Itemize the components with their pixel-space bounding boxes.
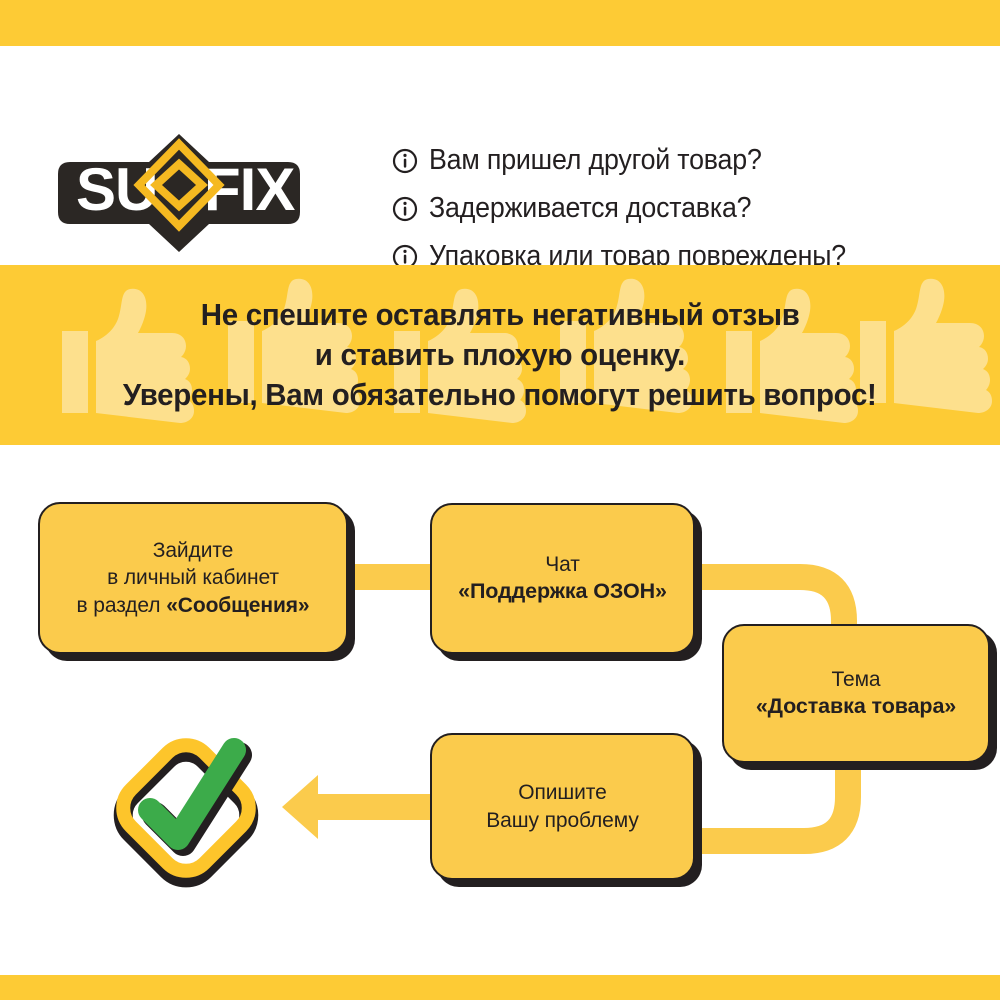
flowchart-section: Зайдите в личный кабинет в раздел «Сообщ… [0, 445, 1000, 975]
question-item: Вам пришел другой товар? [392, 138, 992, 183]
warning-banner: Не спешите оставлять негативный отзыв и … [0, 265, 1000, 445]
node-line-mixed: в раздел «Сообщения» [76, 592, 309, 619]
green-checkmark-icon [106, 728, 266, 888]
info-icon [392, 148, 418, 174]
banner-line-1: Не спешите оставлять негативный отзыв [201, 297, 800, 333]
connector-messages-to-chat [344, 564, 440, 590]
node-line-prefix: в раздел [76, 594, 166, 617]
question-text: Задерживается доставка? [429, 192, 751, 225]
header-section: SU FIX Вам пришел д [0, 46, 1000, 265]
banner-line-2: и ставить плохую оценку. [315, 337, 685, 373]
poster-root: SU FIX Вам пришел д [0, 0, 1000, 1000]
banner-line-3: Уверены, Вам обязательно помогут решить … [123, 377, 877, 413]
node-line-bold: «Доставка товара» [756, 693, 956, 721]
question-list: Вам пришел другой товар? Задерживается д… [392, 138, 992, 282]
flow-node-describe[interactable]: Опишите Вашу проблему [430, 733, 695, 880]
node-line-bold: «Поддержка ОЗОН» [458, 578, 667, 606]
node-line: Тема [831, 666, 880, 693]
node-line: в личный кабинет [107, 564, 279, 591]
arrow-left-icon [282, 775, 436, 839]
node-line: Опишите [518, 779, 606, 806]
node-line: Зайдите [153, 537, 233, 564]
banner-text-block: Не спешите оставлять негативный отзыв и … [0, 265, 1000, 445]
node-line: Чат [545, 551, 580, 578]
sufix-logo: SU FIX [48, 128, 310, 258]
flow-node-chat[interactable]: Чат «Поддержка ОЗОН» [430, 503, 695, 654]
question-text: Вам пришел другой товар? [429, 144, 762, 177]
info-icon [392, 196, 418, 222]
top-accent-bar [0, 0, 1000, 46]
node-line: Вашу проблему [486, 807, 639, 834]
flow-node-topic[interactable]: Тема «Доставка товара» [722, 624, 990, 763]
connector-topic-to-describe [692, 757, 848, 841]
bottom-accent-bar [0, 975, 1000, 1000]
flow-node-messages[interactable]: Зайдите в личный кабинет в раздел «Сообщ… [38, 502, 348, 654]
question-item: Задерживается доставка? [392, 186, 992, 231]
node-line-bold: «Сообщения» [166, 594, 309, 617]
